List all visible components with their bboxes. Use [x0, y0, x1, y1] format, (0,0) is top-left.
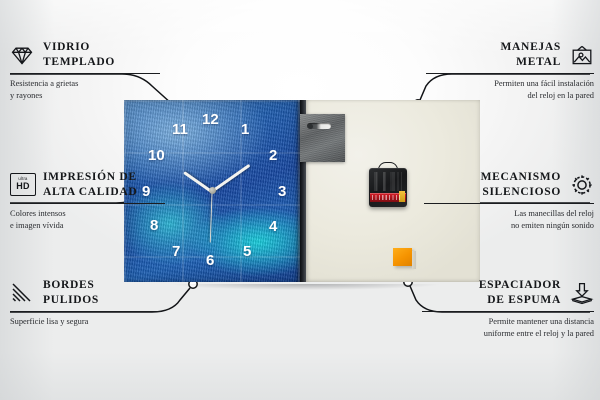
callout-divider: [10, 203, 165, 204]
hanger-hole: [308, 124, 313, 129]
callout-divider: [10, 311, 162, 312]
callout-header: MANEJASMETAL: [426, 40, 594, 69]
callout-mecanismo-silencioso: MECANISMOSILENCIOSO Las manecillas del r…: [424, 170, 594, 232]
clock-minute-hand: [211, 164, 251, 193]
clock-numeral: 3: [278, 184, 286, 199]
callout-header: ultra HD IMPRESIÓN DEALTA CALIDAD: [10, 170, 165, 199]
callout-divider: [426, 73, 594, 74]
clock-numeral: 7: [172, 244, 180, 259]
callout-divider: [422, 311, 594, 312]
clock-numeral: 10: [148, 148, 165, 163]
callout-header: BORDESPULIDOS: [10, 278, 162, 307]
callout-manejas-metal: MANEJASMETAL Permiten una fácil instalac…: [426, 40, 594, 102]
callout-title: ESPACIADORDE ESPUMA: [479, 278, 561, 307]
arrow-down-onto-surface-icon: [570, 281, 594, 305]
clock-numeral: 6: [206, 253, 214, 268]
callout-title: MECANISMOSILENCIOSO: [481, 170, 561, 199]
callout-bordes-pulidos: BORDESPULIDOS Superficie lisa y segura: [10, 278, 162, 328]
callout-divider: [10, 73, 160, 74]
callout-divider: [424, 203, 594, 204]
clock-numeral: 4: [269, 219, 277, 234]
product-infographic: 12 1 2 3 4 5 6 7 8 9 10 11: [0, 0, 600, 400]
clock-numeral: 12: [202, 112, 219, 127]
callout-description: Las manecillas del relojno emiten ningún…: [424, 208, 594, 232]
clock-numeral: 11: [172, 122, 188, 137]
callout-title: VIDRIOTEMPLADO: [43, 40, 115, 69]
clock-numeral: 1: [241, 122, 249, 137]
foam-spacer-side: [412, 251, 416, 269]
callout-header: VIDRIOTEMPLADO: [10, 40, 160, 69]
foam-spacer: [393, 248, 412, 266]
callout-title: BORDESPULIDOS: [43, 278, 99, 307]
metal-hanger-plate: [300, 114, 345, 162]
callout-description: Resistencia a grietasy rayones: [10, 78, 160, 102]
clock-hour-hand: [183, 171, 213, 193]
callout-header: MECANISMOSILENCIOSO: [424, 170, 594, 199]
diamond-icon: [10, 43, 34, 67]
callout-description: Superficie lisa y segura: [10, 316, 162, 328]
clock-hands-center-cap: [209, 187, 216, 194]
callout-impresion-alta-calidad: ultra HD IMPRESIÓN DEALTA CALIDAD Colore…: [10, 170, 165, 232]
ultra-hd-icon: ultra HD: [10, 173, 34, 197]
callout-description: Colores intensose imagen vívida: [10, 208, 165, 232]
clock-numeral: 5: [243, 244, 251, 259]
clock-numeral: 2: [269, 148, 277, 163]
callout-header: ESPACIADORDE ESPUMA: [422, 278, 594, 307]
gear-icon: [570, 173, 594, 197]
polished-edge-lines-icon: [10, 281, 34, 305]
callout-title: MANEJASMETAL: [501, 40, 562, 69]
callout-description: Permiten una fácil instalacióndel reloj …: [426, 78, 594, 102]
battery-label: [372, 195, 400, 200]
callout-vidrio-templado: VIDRIOTEMPLADO Resistencia a grietasy ra…: [10, 40, 160, 102]
hanging-picture-frame-icon: [570, 43, 594, 67]
callout-espaciador-de-espuma: ESPACIADORDE ESPUMA Permite mantener una…: [422, 278, 594, 340]
callout-title: IMPRESIÓN DEALTA CALIDAD: [43, 170, 137, 199]
mechanism-detail: [372, 172, 402, 191]
clock-second-hand: [210, 191, 213, 243]
ultra-hd-icon-large-text: HD: [16, 182, 30, 191]
callout-description: Permite mantener una distanciauniforme e…: [422, 316, 594, 340]
